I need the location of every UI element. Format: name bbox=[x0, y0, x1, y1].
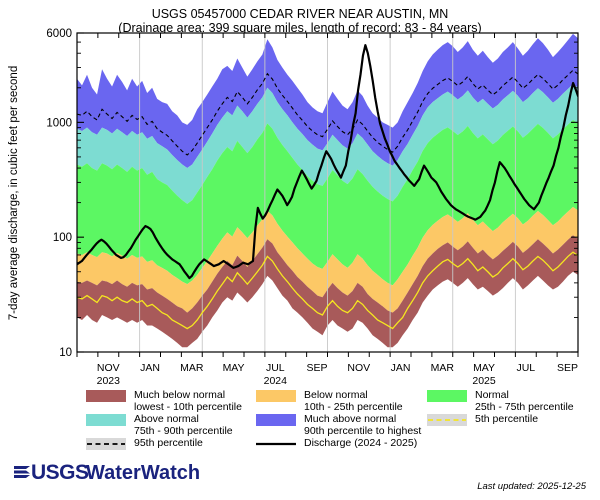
legend-label-primary: 95th percentile bbox=[134, 437, 203, 449]
page-title: USGS 05457000 CEDAR RIVER NEAR AUSTIN, M… bbox=[152, 7, 449, 21]
legend-label-primary: Much below normal bbox=[134, 389, 225, 401]
waterwatch-streamflow-figure: USGS 05457000 CEDAR RIVER NEAR AUSTIN, M… bbox=[0, 0, 600, 500]
legend-label-secondary: 75th - 90th percentile bbox=[134, 425, 233, 437]
legend-swatch bbox=[256, 414, 296, 426]
x-tick-label: JUL bbox=[516, 362, 535, 374]
usgs-wave-icon bbox=[14, 466, 30, 478]
x-tick-label: MAR bbox=[431, 362, 455, 374]
x-tick-label: JAN bbox=[391, 362, 411, 374]
legend-label-secondary: 10th - 25th percentile bbox=[304, 401, 403, 413]
x-tick-label: NOV bbox=[347, 362, 370, 374]
legend-swatch bbox=[86, 390, 126, 402]
x-tick-year-label: 2024 bbox=[264, 375, 288, 387]
legend-label-secondary: 25th - 75th percentile bbox=[475, 401, 574, 413]
y-tick-label: 6000 bbox=[46, 28, 72, 40]
x-tick-year-label: 2025 bbox=[472, 375, 496, 387]
legend-label-primary: Normal bbox=[475, 389, 509, 401]
legend-label-secondary: 90th percentile to highest bbox=[304, 425, 421, 437]
x-tick-label: MAR bbox=[180, 362, 204, 374]
y-tick-label: 1000 bbox=[46, 117, 72, 129]
legend-item-p05: 5th percentile bbox=[427, 413, 538, 426]
x-tick-label: SEP bbox=[557, 362, 578, 374]
x-tick-label: MAY bbox=[223, 362, 245, 374]
x-tick-label: MAY bbox=[473, 362, 495, 374]
y-axis-label: 7-day average discharge, in cubic feet p… bbox=[8, 66, 20, 320]
last-updated-note: Last updated: 2025-12-25 bbox=[477, 481, 587, 492]
y-tick-label: 100 bbox=[53, 232, 72, 244]
x-tick-label: JAN bbox=[140, 362, 160, 374]
legend-label-secondary: lowest - 10th percentile bbox=[134, 401, 242, 413]
plot-area bbox=[77, 33, 578, 352]
legend-item-p95: 95th percentile bbox=[86, 437, 203, 450]
legend-swatch bbox=[427, 390, 467, 402]
x-tick-label: SEP bbox=[307, 362, 328, 374]
usgs-wordmark: USGS bbox=[31, 461, 89, 484]
legend-label-primary: Discharge (2024 - 2025) bbox=[304, 437, 417, 449]
legend-swatch bbox=[256, 390, 296, 402]
legend-label-primary: Much above normal bbox=[304, 413, 396, 425]
legend-swatch bbox=[86, 414, 126, 426]
x-tick-year-label: 2023 bbox=[97, 375, 121, 387]
legend-label-primary: 5th percentile bbox=[475, 413, 538, 425]
y-tick-label: 10 bbox=[59, 347, 72, 359]
x-tick-label: JUL bbox=[266, 362, 285, 374]
legend-label-primary: Above normal bbox=[134, 413, 199, 425]
waterwatch-wordmark: WaterWatch bbox=[86, 462, 200, 484]
legend-label-primary: Below normal bbox=[304, 389, 368, 401]
usgs-waterwatch-logo[interactable]: USGS WaterWatch bbox=[14, 461, 200, 484]
x-tick-label: NOV bbox=[97, 362, 120, 374]
